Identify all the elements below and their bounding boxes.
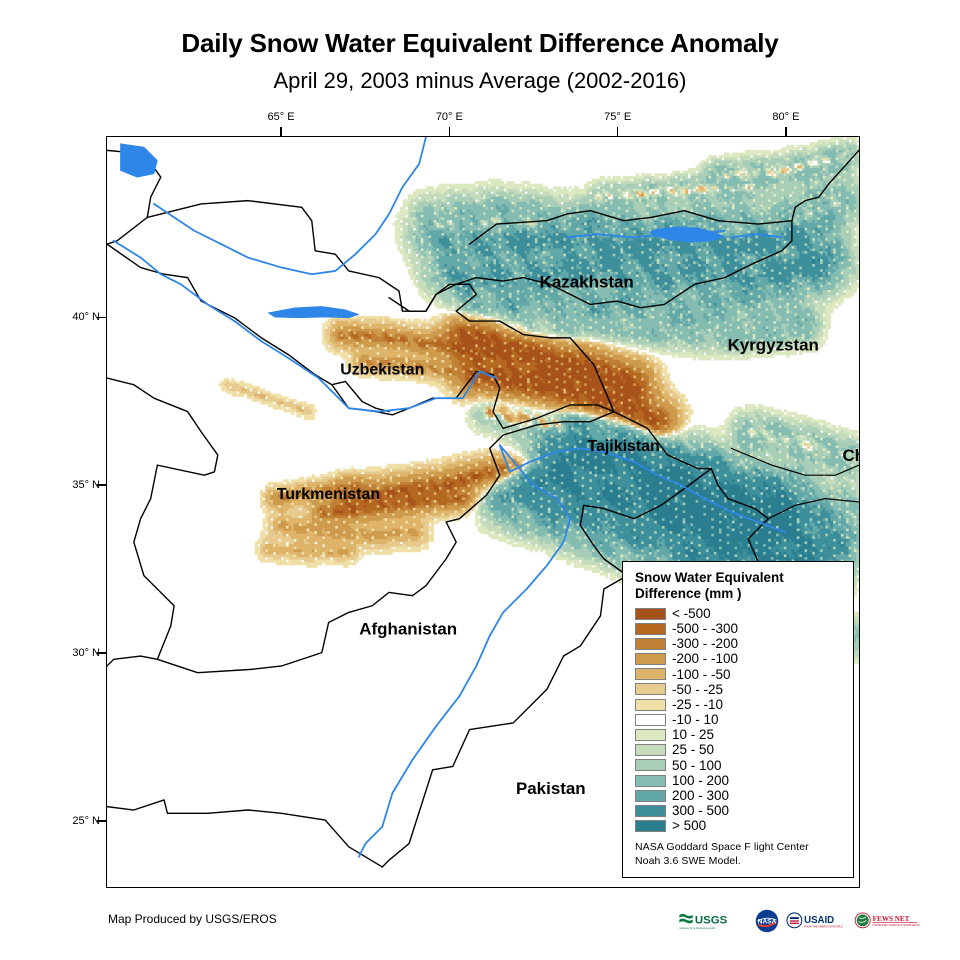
usaid-logo: USAID FROM THE AMERICAN PEOPLE	[786, 908, 848, 934]
legend-swatch-0	[635, 608, 666, 620]
lon-tick-mark-0	[280, 127, 282, 136]
legend-swatch-14	[635, 820, 666, 832]
legend-row: < -500	[635, 606, 843, 621]
legend-row: 10 - 25	[635, 727, 843, 742]
legend-label-8: 10 - 25	[672, 728, 714, 742]
legend-credit-line2: Noah 3.6 SWE Model.	[635, 854, 843, 868]
lat-tick-label-1: 35° N	[62, 479, 100, 491]
legend-label-6: -25 - -10	[672, 698, 723, 712]
legend-swatch-2	[635, 638, 666, 650]
legend-swatch-12	[635, 790, 666, 802]
nasa-logo: NASA	[754, 908, 780, 934]
legend-label-3: -200 - -100	[672, 652, 738, 666]
legend-swatch-1	[635, 623, 666, 635]
legend-label-12: 200 - 300	[672, 789, 729, 803]
legend-swatch-4	[635, 668, 666, 680]
country-label-pakistan: Pakistan	[516, 779, 586, 798]
legend-swatch-5	[635, 683, 666, 695]
legend-swatch-7	[635, 714, 666, 726]
legend-row: -50 - -25	[635, 682, 843, 697]
legend-swatch-8	[635, 729, 666, 741]
lon-tick-mark-3	[785, 127, 787, 136]
legend-row: 25 - 50	[635, 743, 843, 758]
lat-tick-label-0: 40° N	[62, 311, 100, 323]
legend-swatch-11	[635, 775, 666, 787]
legend-label-11: 100 - 200	[672, 774, 729, 788]
country-label-tajikistan: Tajikistan	[587, 438, 659, 455]
legend-label-1: -500 - -300	[672, 622, 738, 636]
legend-row: 200 - 300	[635, 788, 843, 803]
legend-label-13: 300 - 500	[672, 804, 729, 818]
legend-row: -200 - -100	[635, 652, 843, 667]
legend-credit-line1: NASA Goddard Space F light Center	[635, 840, 843, 854]
legend-row: -300 - -200	[635, 636, 843, 651]
legend-label-10: 50 - 100	[672, 759, 722, 773]
producer-credit: Map Produced by USGS/EROS	[108, 912, 277, 926]
country-label-kyrgyzstan: Kyrgyzstan	[728, 335, 819, 354]
legend-credit: NASA Goddard Space F light Center Noah 3…	[635, 840, 843, 868]
page-title: Daily Snow Water Equivalent Difference A…	[0, 28, 960, 59]
lat-tick-mark-0	[97, 317, 106, 319]
country-label-kazakhstan: Kazakhstan	[540, 273, 634, 292]
lat-tick-mark-1	[97, 484, 106, 486]
legend-label-5: -50 - -25	[672, 683, 723, 697]
country-label-afghanistan: Afghanistan	[359, 620, 457, 639]
legend-label-7: -10 - 10	[672, 713, 719, 727]
lon-tick-label-2: 75° E	[604, 111, 631, 123]
country-label-china: China	[842, 446, 859, 465]
legend-label-14: > 500	[672, 819, 706, 833]
legend-label-0: < -500	[672, 607, 711, 621]
legend-row: -100 - -50	[635, 667, 843, 682]
lon-tick-label-3: 80° E	[772, 111, 799, 123]
lon-tick-mark-2	[617, 127, 619, 136]
lat-tick-label-2: 30° N	[62, 647, 100, 659]
legend-row: -10 - 10	[635, 712, 843, 727]
legend-swatch-3	[635, 653, 666, 665]
map-legend: Snow Water Equivalent Difference (mm ) <…	[622, 561, 854, 878]
legend-row: 300 - 500	[635, 803, 843, 818]
usgs-logo: USGS science for a changing world	[678, 908, 748, 934]
lon-tick-label-1: 70° E	[436, 111, 463, 123]
legend-label-9: 25 - 50	[672, 743, 714, 757]
agency-logo-row: USGS science for a changing world NASA U…	[678, 908, 920, 934]
legend-class-list: < -500-500 - -300-300 - -200-200 - -100-…	[635, 606, 843, 834]
country-label-uzbekistan: Uzbekistan	[340, 361, 424, 378]
lon-tick-label-0: 65° E	[268, 111, 295, 123]
country-label-turkmenistan: Turkmenistan	[277, 486, 380, 503]
lon-tick-mark-1	[449, 127, 451, 136]
legend-title-line2: Difference (mm )	[635, 586, 742, 601]
fewsnet-logo: FEWS NET FAMINE EARLY WARNING SYSTEMS NE…	[854, 908, 920, 934]
legend-row: 50 - 100	[635, 758, 843, 773]
map-page: Daily Snow Water Equivalent Difference A…	[0, 0, 960, 960]
legend-row: > 500	[635, 819, 843, 834]
lat-tick-mark-3	[97, 820, 106, 822]
legend-swatch-13	[635, 805, 666, 817]
lat-tick-mark-2	[97, 652, 106, 654]
legend-row: -25 - -10	[635, 697, 843, 712]
legend-swatch-9	[635, 744, 666, 756]
legend-row: -500 - -300	[635, 621, 843, 636]
legend-title: Snow Water Equivalent Difference (mm )	[635, 570, 843, 603]
legend-row: 100 - 200	[635, 773, 843, 788]
legend-swatch-10	[635, 759, 666, 771]
legend-title-line1: Snow Water Equivalent	[635, 570, 784, 585]
lat-tick-label-3: 25° N	[62, 815, 100, 827]
page-subtitle: April 29, 2003 minus Average (2002-2016)	[0, 68, 960, 94]
legend-label-2: -300 - -200	[672, 637, 738, 651]
legend-label-4: -100 - -50	[672, 668, 731, 682]
legend-swatch-6	[635, 699, 666, 711]
